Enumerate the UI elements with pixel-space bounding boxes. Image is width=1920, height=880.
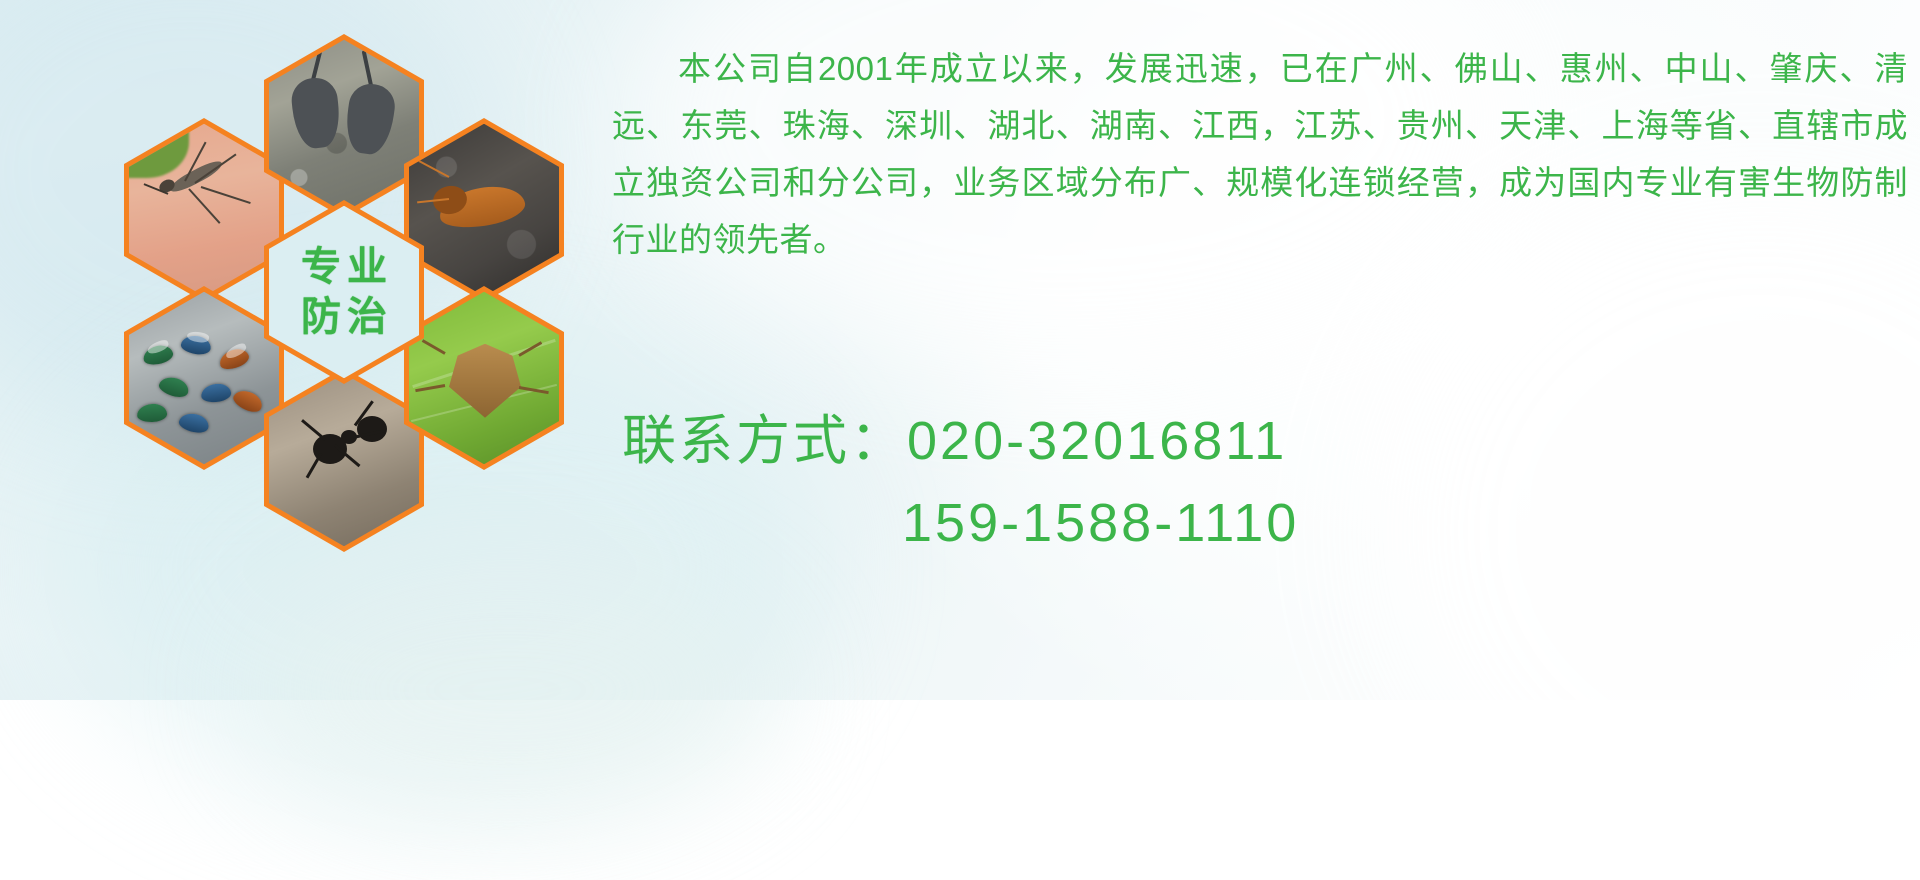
rats-icon [269,40,419,212]
contact-phone-secondary[interactable]: 159-1588-1110 [612,482,1912,564]
hex-mosquito-photo[interactable] [124,118,284,302]
about-paragraph: 本公司自2001年成立以来，发展迅速，已在广州、佛山、惠州、中山、肇庆、清远、东… [612,40,1908,268]
honeycomb-image-cluster: 专业 防治 [96,8,596,568]
ant-icon [269,374,419,546]
flies-icon [129,292,279,464]
hex-ant-photo[interactable] [264,368,424,552]
hex-flies-inner [129,292,279,464]
slogan-text: 专业 防治 [269,206,419,378]
cockroach-icon [409,124,559,296]
about-paragraph-block: 本公司自2001年成立以来，发展迅速，已在广州、佛山、惠州、中山、肇庆、清远、东… [612,40,1908,268]
hex-ant-inner [269,374,419,546]
hex-cockroach-inner [409,124,559,296]
hex-stinkbug-inner [409,292,559,464]
pest-control-banner: 专业 防治 本公司自2001年成立以来，发展迅速，已在广州、佛山、惠州、中山、肇… [0,0,1920,700]
slogan-line-2: 防治 [301,292,393,342]
stinkbug-icon [409,292,559,464]
slogan-line-1: 专业 [301,242,393,292]
hex-slogan: 专业 防治 [264,200,424,384]
contact-block: 联系方式：020-32016811 159-1588-1110 [612,400,1912,564]
hex-slogan-inner: 专业 防治 [269,206,419,378]
hex-flies-photo[interactable] [124,286,284,470]
contact-phone-primary[interactable]: 联系方式：020-32016811 [612,400,1912,482]
hex-rats-inner [269,40,419,212]
hex-mosquito-inner [129,124,279,296]
mosquito-icon [129,124,279,296]
background-blob [250,560,770,820]
hex-stinkbug-photo[interactable] [404,286,564,470]
hex-cockroach-photo[interactable] [404,118,564,302]
hex-rats-photo[interactable] [264,34,424,218]
